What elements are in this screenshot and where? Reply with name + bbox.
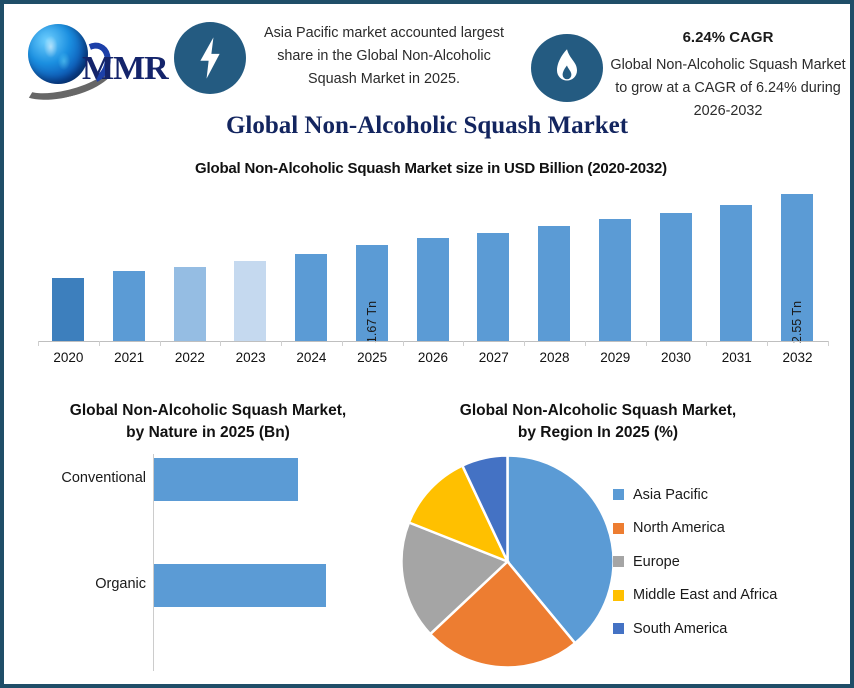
legend-label: North America [633, 520, 725, 536]
x-tick-label-2030: 2030 [646, 350, 707, 365]
page-title: Global Non-Alcoholic Squash Market [4, 112, 850, 140]
bar-slot [403, 184, 464, 341]
x-axis-tick [646, 341, 647, 346]
nature-chart-title-line1: Global Non-Alcoholic Squash Market, [18, 400, 398, 422]
x-tick-label-2023: 2023 [220, 350, 281, 365]
nature-bar-chart: Global Non-Alcoholic Squash Market, by N… [8, 396, 408, 684]
region-chart-title-line1: Global Non-Alcoholic Squash Market, [418, 400, 778, 422]
bar-2023 [234, 261, 266, 341]
x-axis-tick [463, 341, 464, 346]
region-pie-chart: Global Non-Alcoholic Squash Market, by R… [408, 396, 854, 684]
category-label-organic: Organic [0, 576, 146, 592]
x-tick-label-2022: 2022 [160, 350, 221, 365]
legend-item-europe: Europe [613, 545, 853, 579]
legend-swatch-icon [613, 623, 624, 634]
region-chart-title: Global Non-Alcoholic Squash Market, by R… [418, 400, 778, 444]
legend-swatch-icon [613, 523, 624, 534]
market-size-bar-chart: Global Non-Alcoholic Squash Market size … [8, 154, 854, 384]
bar-slot [706, 184, 767, 341]
legend-item-asia-pacific: Asia Pacific [613, 478, 853, 512]
x-tick-label-2025: 2025 [342, 350, 403, 365]
bar-2032: 2.55 Tn [781, 194, 813, 341]
legend-swatch-icon [613, 556, 624, 567]
x-tick-label-2028: 2028 [524, 350, 585, 365]
legend-item-north-america: North America [613, 512, 853, 546]
logo-text: MMR [82, 50, 168, 88]
x-tick-label-2020: 2020 [38, 350, 99, 365]
x-axis-tick [828, 341, 829, 346]
x-tick-label-2024: 2024 [281, 350, 342, 365]
region-chart-title-line2: by Region In 2025 (%) [418, 422, 778, 444]
bar-slot [99, 184, 160, 341]
legend-item-south-america: South America [613, 612, 853, 646]
bar-2025: 1.67 Tn [356, 245, 388, 341]
header-left-note: Asia Pacific market accounted largest sh… [254, 22, 514, 91]
flame-icon [531, 34, 603, 102]
x-axis-tick [585, 341, 586, 346]
nature-chart-title: Global Non-Alcoholic Squash Market, by N… [18, 400, 398, 444]
bar-slot [160, 184, 221, 341]
legend-label: Europe [633, 554, 680, 570]
x-axis-tick [99, 341, 100, 346]
bar-2026 [417, 238, 449, 341]
legend-label: Asia Pacific [633, 487, 708, 503]
bar-2027 [477, 233, 509, 341]
pie-graphic [400, 454, 615, 669]
legend-label: South America [633, 621, 727, 637]
legend-swatch-icon [613, 590, 624, 601]
x-tick-label-2029: 2029 [585, 350, 646, 365]
x-axis-tick [767, 341, 768, 346]
pie-legend: Asia PacificNorth AmericaEuropeMiddle Ea… [613, 478, 853, 646]
bar-chart-x-tick-labels: 2020202120222023202420252026202720282029… [38, 350, 828, 372]
bar-slot [38, 184, 99, 341]
x-axis-tick [160, 341, 161, 346]
header: MMR Asia Pacific market accounted larges… [4, 4, 850, 108]
bar-2021 [113, 271, 145, 341]
bar-slot [585, 184, 646, 341]
bar-2029 [599, 219, 631, 341]
bar-slot [281, 184, 342, 341]
bar-2031 [720, 205, 752, 341]
x-axis-tick [706, 341, 707, 346]
bar-2024 [295, 254, 327, 341]
x-tick-label-2027: 2027 [463, 350, 524, 365]
x-axis-tick [342, 341, 343, 346]
bar-slot: 2.55 Tn [767, 184, 828, 341]
x-tick-label-2021: 2021 [99, 350, 160, 365]
bar-slot [646, 184, 707, 341]
hbar-conventional [154, 458, 298, 501]
cagr-headline: 6.24% CAGR [609, 26, 847, 49]
nature-chart-title-line2: by Nature in 2025 (Bn) [18, 422, 398, 444]
lightning-bolt-icon [174, 22, 246, 94]
bar-value-label: 2.55 Tn [790, 301, 804, 343]
x-axis-tick [403, 341, 404, 346]
bar-chart-plot: 1.67 Tn2.55 Tn [38, 184, 828, 341]
bar-chart-x-axis [38, 341, 828, 342]
bar-slot [220, 184, 281, 341]
bar-value-label: 1.67 Tn [365, 301, 379, 343]
x-axis-tick [38, 341, 39, 346]
x-tick-label-2032: 2032 [767, 350, 828, 365]
bar-2028 [538, 226, 570, 341]
x-axis-tick [281, 341, 282, 346]
bar-2020 [52, 278, 84, 341]
bar-slot: 1.67 Tn [342, 184, 403, 341]
header-right-note: 6.24% CAGR Global Non-Alcoholic Squash M… [609, 26, 847, 123]
x-tick-label-2031: 2031 [706, 350, 767, 365]
infographic-page: MMR Asia Pacific market accounted larges… [0, 0, 854, 688]
x-tick-label-2026: 2026 [403, 350, 464, 365]
mmr-logo: MMR [14, 20, 172, 96]
legend-label: Middle East and Africa [633, 587, 777, 603]
pie-svg [400, 454, 615, 669]
bar-chart-title: Global Non-Alcoholic Squash Market size … [8, 160, 854, 177]
bar-2022 [174, 267, 206, 341]
category-label-conventional: Conventional [0, 470, 146, 486]
legend-item-middle-east-and-africa: Middle East and Africa [613, 579, 853, 613]
bar-2030 [660, 213, 692, 341]
bar-slot [524, 184, 585, 341]
bar-slot [463, 184, 524, 341]
x-axis-tick [524, 341, 525, 346]
hbar-organic [154, 564, 326, 607]
x-axis-tick [220, 341, 221, 346]
legend-swatch-icon [613, 489, 624, 500]
